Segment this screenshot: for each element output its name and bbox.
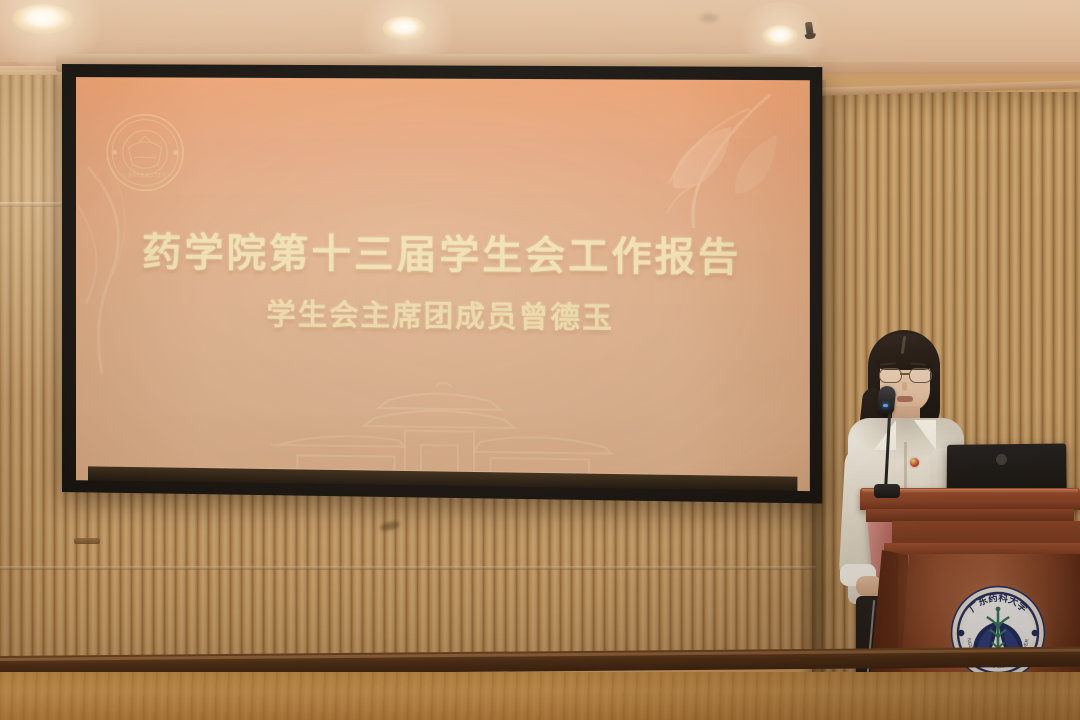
ceiling-smudge xyxy=(700,14,718,22)
lecture-hall-photo: UNIVERSITY 药学院第十三届学生会工作 xyxy=(0,0,1080,720)
downlight-left xyxy=(12,4,74,34)
collar-left xyxy=(874,420,896,450)
presentation-laptop xyxy=(947,443,1067,492)
downlight-center xyxy=(382,16,426,40)
projection-screen-frame: UNIVERSITY 药学院第十三届学生会工作 xyxy=(62,64,822,504)
nose xyxy=(902,382,907,391)
screen-vignette xyxy=(76,77,810,491)
glasses-bridge xyxy=(900,373,910,375)
projection-screen-surface: UNIVERSITY 药学院第十三届学生会工作 xyxy=(76,77,810,491)
wall-vent-slot xyxy=(74,538,100,544)
eyeglasses-icon xyxy=(878,368,932,382)
party-emblem-pin-icon xyxy=(910,458,919,467)
lens-left xyxy=(879,368,902,383)
downlight-right xyxy=(762,25,798,47)
mouth xyxy=(897,396,913,402)
microphone-led-indicator xyxy=(883,404,888,407)
lens-right xyxy=(909,368,932,383)
wall-panel-seam-lower xyxy=(0,566,816,570)
laptop-logo-icon xyxy=(996,454,1007,465)
floor-grain xyxy=(0,672,1080,720)
microphone-base xyxy=(874,484,900,498)
gooseneck-microphone-icon xyxy=(877,385,897,415)
collar-right xyxy=(914,420,936,450)
